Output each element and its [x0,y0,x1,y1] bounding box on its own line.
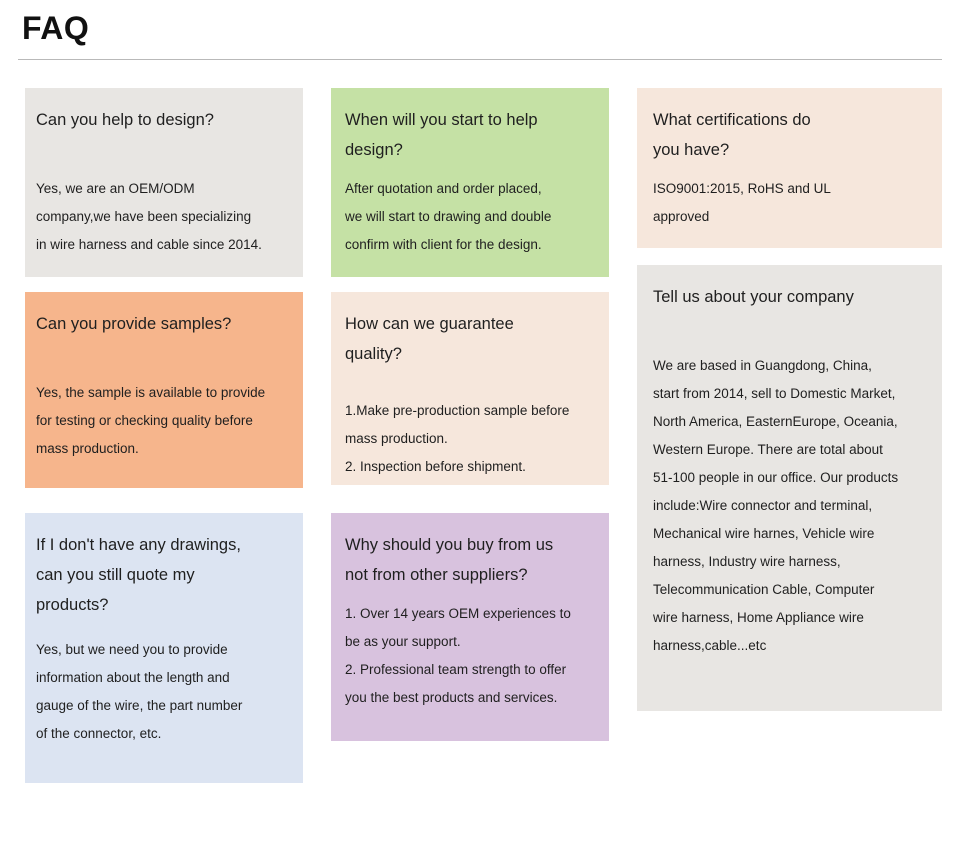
faq-card-why-buy: Why should you buy from us not from othe… [331,513,609,741]
title-divider [18,59,942,60]
page-title: FAQ [22,8,89,48]
faq-page: FAQ Can you help to design? Yes, we are … [0,0,960,842]
faq-answer: Yes, we are an OEM/ODM company,we have b… [36,175,287,259]
faq-answer: ISO9001:2015, RoHS and UL approved [653,175,928,231]
faq-question: If I don't have any drawings, can you st… [36,530,287,620]
faq-card-certifications: What certifications do you have? ISO9001… [637,88,942,248]
faq-card-samples: Can you provide samples? Yes, the sample… [25,292,303,488]
faq-question: What certifications do you have? [653,105,928,165]
faq-answer: Yes, the sample is available to provide … [36,379,287,463]
faq-answer: Yes, but we need you to provide informat… [36,636,287,748]
faq-answer: We are based in Guangdong, China, start … [653,352,928,660]
faq-question: Can you provide samples? [36,309,287,339]
faq-card-company: Tell us about your company We are based … [637,265,942,711]
faq-card-when-start: When will you start to help design? Afte… [331,88,609,277]
faq-card-design: Can you help to design? Yes, we are an O… [25,88,303,277]
faq-question: Why should you buy from us not from othe… [345,530,595,590]
faq-question: When will you start to help design? [345,105,595,165]
faq-answer: 1.Make pre-production sample before mass… [345,397,595,481]
faq-answer: 1. Over 14 years OEM experiences to be a… [345,600,595,712]
faq-question: Can you help to design? [36,105,287,135]
faq-question: How can we guarantee quality? [345,309,595,369]
faq-card-quality: How can we guarantee quality? 1.Make pre… [331,292,609,485]
faq-answer: After quotation and order placed, we wil… [345,175,595,259]
faq-card-drawings: If I don't have any drawings, can you st… [25,513,303,783]
faq-question: Tell us about your company [653,282,928,312]
